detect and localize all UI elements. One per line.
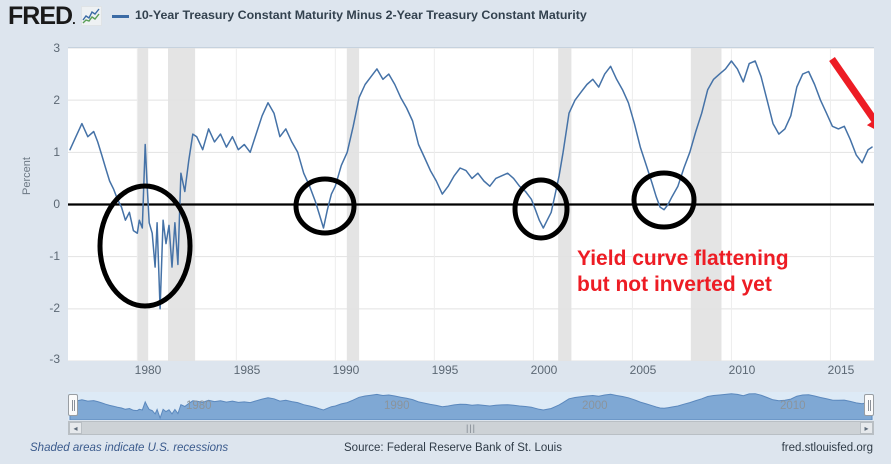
x-tick-2015: 2015 bbox=[811, 363, 871, 377]
grip-line bbox=[74, 400, 75, 411]
scroll-left-arrow-icon[interactable]: ◂ bbox=[69, 422, 82, 434]
x-tick-1990: 1990 bbox=[316, 363, 376, 377]
x-tick-1995: 1995 bbox=[415, 363, 475, 377]
navigator-label-1980: 1980 bbox=[186, 400, 212, 412]
x-tick-1980: 1980 bbox=[118, 363, 178, 377]
fred-logo[interactable]: FRED. bbox=[8, 3, 80, 29]
navigator-left-handle[interactable] bbox=[68, 394, 78, 416]
horizontal-scrollbar[interactable]: ◂ ||| ▸ bbox=[68, 421, 874, 435]
y-tick-2: 2 bbox=[8, 93, 60, 107]
annotation-arrow bbox=[832, 59, 874, 134]
y-tick-neg3: -3 bbox=[8, 352, 60, 366]
navigator-label-2010: 2010 bbox=[780, 400, 806, 412]
legend-color-swatch bbox=[112, 15, 129, 18]
line-chart-icon bbox=[81, 6, 102, 26]
plot-canvas bbox=[68, 48, 874, 361]
chart-header: FRED. 10-Year Treasury Constant Maturity… bbox=[0, 0, 891, 34]
source-note: Source: Federal Reserve Bank of St. Loui… bbox=[344, 442, 562, 454]
navigator-label-1990: 1990 bbox=[384, 400, 410, 412]
fred-chart-screenshot: FRED. 10-Year Treasury Constant Maturity… bbox=[0, 0, 891, 464]
legend-series-label[interactable]: 10-Year Treasury Constant Maturity Minus… bbox=[135, 6, 587, 24]
grip-line bbox=[868, 400, 869, 411]
fred-logo-dot: . bbox=[72, 12, 75, 27]
y-tick-0: 0 bbox=[8, 197, 60, 211]
y-tick-neg2: -2 bbox=[8, 301, 60, 315]
navigator-label-2000: 2000 bbox=[582, 400, 608, 412]
grip-line bbox=[72, 400, 73, 411]
callout-line-2: but not inverted yet bbox=[577, 272, 877, 298]
recession-note: Shaded areas indicate U.S. recessions bbox=[30, 442, 228, 454]
scrollbar-grip-icon[interactable]: ||| bbox=[466, 425, 476, 432]
annotation-circle-inversion-1989 bbox=[296, 179, 354, 233]
arrow-shaft bbox=[832, 59, 874, 123]
navigator-right-handle[interactable] bbox=[864, 394, 874, 416]
x-tick-2010: 2010 bbox=[712, 363, 772, 377]
grip-line bbox=[870, 400, 871, 411]
y-tick-1: 1 bbox=[8, 145, 60, 159]
fred-url[interactable]: fred.stlouisfed.org bbox=[782, 442, 873, 454]
y-tick-3: 3 bbox=[8, 41, 60, 55]
callout-line-1: Yield curve flattening bbox=[577, 246, 877, 272]
fred-logo-text: FRED bbox=[8, 2, 72, 30]
range-navigator[interactable]: 1980 1990 2000 2010 bbox=[68, 392, 874, 420]
callout-annotation: Yield curve flattening but not inverted … bbox=[577, 246, 877, 298]
x-tick-2005: 2005 bbox=[613, 363, 673, 377]
plot-area[interactable] bbox=[68, 47, 874, 361]
y-tick-neg1: -1 bbox=[8, 249, 60, 263]
scroll-right-arrow-icon[interactable]: ▸ bbox=[860, 422, 873, 434]
x-tick-2000: 2000 bbox=[514, 363, 574, 377]
x-tick-1985: 1985 bbox=[217, 363, 277, 377]
chart-footer: Shaded areas indicate U.S. recessions So… bbox=[0, 440, 891, 464]
annotation-circle-inversion-2006 bbox=[634, 173, 694, 227]
